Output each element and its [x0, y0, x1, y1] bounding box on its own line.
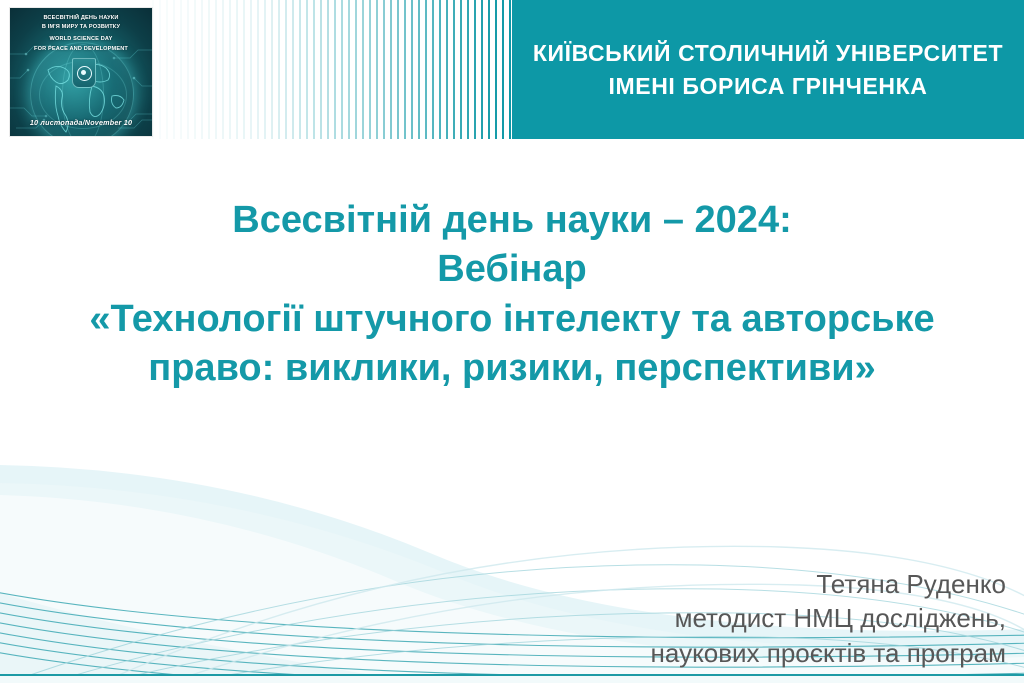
title-line-2: Вебінар: [0, 245, 1024, 294]
author-credit: Тетяна Руденко методист НМЦ досліджень, …: [651, 567, 1006, 671]
unesco-emblem-icon: [72, 58, 96, 88]
logo-heading-text: ВСЕСВІТНІЙ ДЕНЬ НАУКИ В ІМ'Я МИРУ ТА РОЗ…: [10, 14, 152, 54]
title-line-1: Всесвітній день науки – 2024:: [0, 196, 1024, 245]
world-science-day-logo: ВСЕСВІТНІЙ ДЕНЬ НАУКИ В ІМ'Я МИРУ ТА РОЗ…: [10, 8, 152, 136]
author-role-line2: наукових проєктів та програм: [651, 636, 1006, 671]
university-name-line2: ІМЕНІ БОРИСА ГРІНЧЕНКА: [609, 71, 928, 101]
header-stripe-pattern: [152, 0, 512, 139]
author-name: Тетяна Руденко: [651, 567, 1006, 602]
emblem-ring-icon: [77, 66, 92, 81]
bottom-fill-strip: [0, 676, 1024, 683]
page-title: Всесвітній день науки – 2024: Вебінар «Т…: [0, 196, 1024, 394]
logo-en-line1: WORLD SCIENCE DAY: [10, 35, 152, 44]
header-band: КИЇВСЬКИЙ СТОЛИЧНИЙ УНІВЕРСИТЕТ ІМЕНІ БО…: [0, 0, 1024, 139]
bottom-accent-rule: [0, 674, 1024, 676]
presentation-slide: КИЇВСЬКИЙ СТОЛИЧНИЙ УНІВЕРСИТЕТ ІМЕНІ БО…: [0, 0, 1024, 683]
university-name-line1: КИЇВСЬКИЙ СТОЛИЧНИЙ УНІВЕРСИТЕТ: [533, 38, 1003, 68]
title-line-3: «Технології штучного інтелекту та авторс…: [0, 295, 1024, 344]
author-role-line1: методист НМЦ досліджень,: [651, 601, 1006, 636]
logo-ua-line1: ВСЕСВІТНІЙ ДЕНЬ НАУКИ: [43, 15, 118, 21]
logo-ua-line2: В ІМ'Я МИРУ ТА РОЗВИТКУ: [42, 24, 120, 30]
logo-date-text: 10 листопада/November 10: [10, 118, 152, 127]
title-line-4: право: виклики, ризики, перспективи»: [0, 344, 1024, 393]
university-name: КИЇВСЬКИЙ СТОЛИЧНИЙ УНІВЕРСИТЕТ ІМЕНІ БО…: [512, 0, 1024, 139]
logo-en-line2: FOR PEACE AND DEVELOPMENT: [34, 46, 128, 52]
